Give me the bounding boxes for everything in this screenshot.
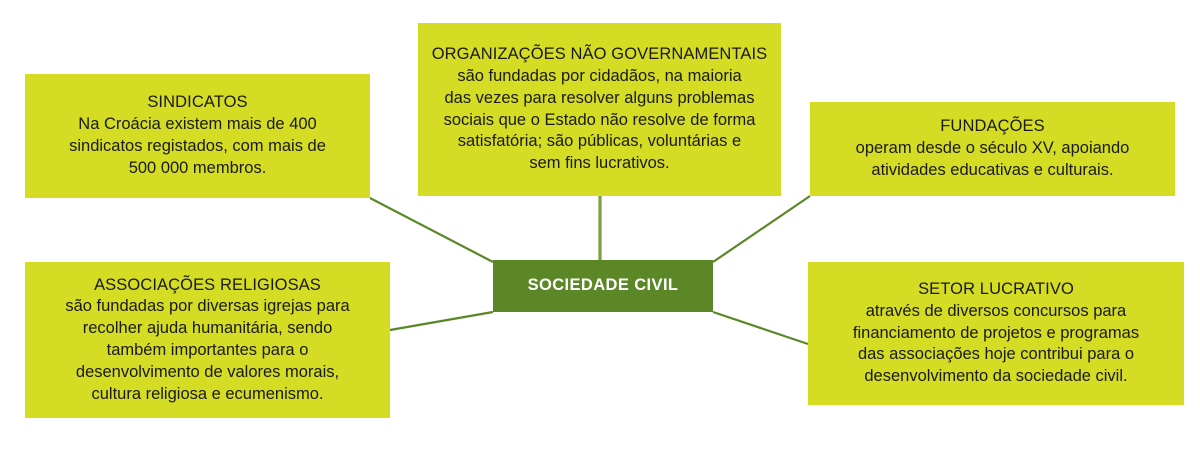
node-organizacoes-nao-governamentais[interactable]: ORGANIZAÇÕES NÃO GOVERNAMENTAIS são fund… bbox=[418, 23, 781, 196]
node-fundacoes-line: atividades educativas e culturais. bbox=[856, 160, 1130, 182]
node-associacoes-title: ASSOCIAÇÕES RELIGIOSAS bbox=[94, 275, 321, 297]
connector-associacoes-to-center bbox=[390, 312, 493, 330]
node-associacoes-line: são fundadas por diversas igrejas para bbox=[65, 296, 349, 318]
node-associacoes-body: são fundadas por diversas igrejas para r… bbox=[65, 296, 349, 405]
node-setor-line: financiamento de projetos e programas bbox=[853, 323, 1139, 345]
node-ongs-line: das vezes para resolver alguns problemas bbox=[444, 88, 756, 110]
node-fundacoes-title: FUNDAÇÕES bbox=[940, 116, 1045, 138]
node-associacoes-line: recolher ajuda humanitária, sendo bbox=[65, 318, 349, 340]
node-sindicatos-line: Na Croácia existem mais de 400 bbox=[69, 114, 326, 136]
node-setor-line: das associações hoje contribui para o bbox=[853, 344, 1139, 366]
node-setor-body: através de diversos concursos para finan… bbox=[853, 301, 1139, 388]
node-sindicatos-body: Na Croácia existem mais de 400 sindicato… bbox=[69, 114, 326, 179]
connector-sindicatos-to-center bbox=[370, 198, 493, 262]
node-sindicatos[interactable]: SINDICATOS Na Croácia existem mais de 40… bbox=[25, 74, 370, 198]
node-sindicatos-line: 500 000 membros. bbox=[69, 158, 326, 180]
node-ongs-line: sociais que o Estado não resolve de form… bbox=[444, 110, 756, 132]
diagram-canvas: SINDICATOS Na Croácia existem mais de 40… bbox=[0, 0, 1200, 454]
node-fundacoes-body: operam desde o século XV, apoiando ativi… bbox=[856, 138, 1130, 182]
node-associacoes-line: desenvolvimento de valores morais, bbox=[65, 362, 349, 384]
node-sociedade-civil-title: SOCIEDADE CIVIL bbox=[528, 275, 679, 297]
node-setor-title: SETOR LUCRATIVO bbox=[918, 279, 1074, 301]
node-ongs-body: são fundadas por cidadãos, na maioria da… bbox=[444, 66, 756, 175]
connector-setor-to-center bbox=[713, 312, 808, 344]
node-sindicatos-title: SINDICATOS bbox=[147, 92, 247, 114]
node-sociedade-civil[interactable]: SOCIEDADE CIVIL bbox=[493, 260, 713, 312]
node-ongs-title: ORGANIZAÇÕES NÃO GOVERNAMENTAIS bbox=[432, 44, 768, 66]
node-setor-line: através de diversos concursos para bbox=[853, 301, 1139, 323]
node-associacoes-line: cultura religiosa e ecumenismo. bbox=[65, 384, 349, 406]
node-associacoes-line: também importantes para o bbox=[65, 340, 349, 362]
node-setor-lucrativo[interactable]: SETOR LUCRATIVO através de diversos conc… bbox=[808, 262, 1184, 405]
node-associacoes-religiosas[interactable]: ASSOCIAÇÕES RELIGIOSAS são fundadas por … bbox=[25, 262, 390, 418]
node-setor-line: desenvolvimento da sociedade civil. bbox=[853, 366, 1139, 388]
node-fundacoes-line: operam desde o século XV, apoiando bbox=[856, 138, 1130, 160]
node-ongs-line: satisfatória; são públicas, voluntárias … bbox=[444, 131, 756, 153]
node-sindicatos-line: sindicatos registados, com mais de bbox=[69, 136, 326, 158]
node-fundacoes[interactable]: FUNDAÇÕES operam desde o século XV, apoi… bbox=[810, 102, 1175, 196]
connector-fundacoes-to-center bbox=[713, 196, 810, 262]
node-ongs-line: sem fins lucrativos. bbox=[444, 153, 756, 175]
node-ongs-line: são fundadas por cidadãos, na maioria bbox=[444, 66, 756, 88]
